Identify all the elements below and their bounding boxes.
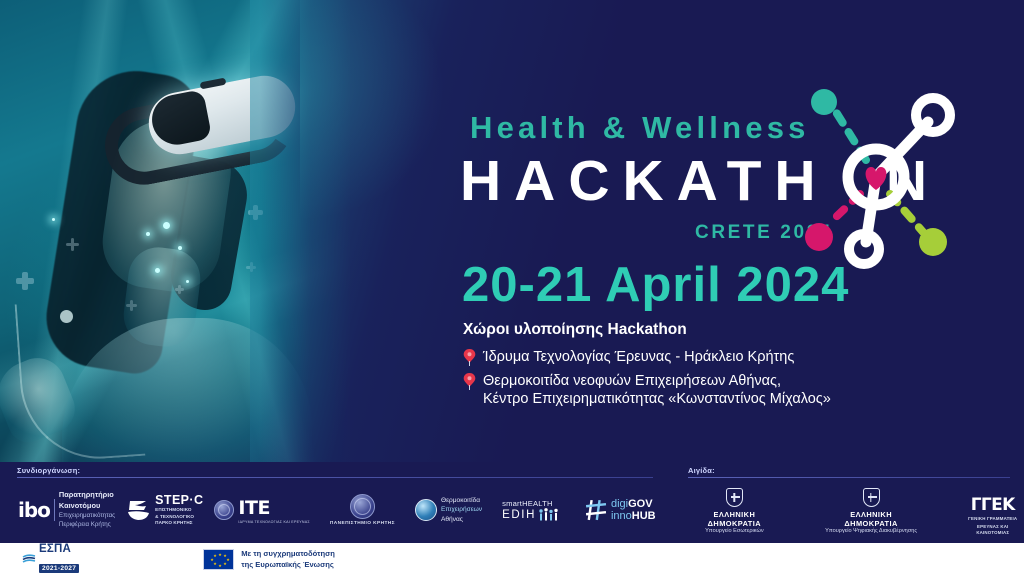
venue-item: Ίδρυμα Τεχνολογίας Έρευνας - Ηράκλειο Κρ… <box>463 348 933 366</box>
organizer-logo-forth: ITE ΙΔΡΥΜΑ ΤΕΧΝΟΛΟΓΙΑΣ ΚΑΙ ΕΡΕΥΝΑΣ <box>214 497 309 524</box>
ministry-digital-sub: Υπουργείο Ψηφιακής Διακυβέρνησης <box>825 528 918 534</box>
forth-seal-icon <box>214 500 234 520</box>
ibo-wordmark: ibo <box>18 498 50 522</box>
ministry-interior-sub: Υπουργείο Εσωτερικών <box>688 528 781 534</box>
map-pin-icon <box>463 373 476 390</box>
medical-cross-icon <box>66 238 79 251</box>
forth-name: ITE <box>238 497 309 519</box>
sparkle <box>186 280 189 283</box>
espa-wave-icon <box>22 553 36 567</box>
medical-cross-icon <box>246 262 256 272</box>
ibo-line2: Καινοτόμου <box>59 501 100 510</box>
hellenic-republic-crest-icon <box>726 488 743 507</box>
event-poster: Health & Wellness HACKATHON CRETE 2024 <box>0 0 1024 576</box>
edih-label: EDIH <box>502 509 536 521</box>
step-c-text: STEP·C ΕΠΙΣΤΗΜΟΝΙΚΟ & ΤΕΧΝΟΛΟΓΙΚΟ ΠΑΡΚΟ … <box>155 493 203 527</box>
medical-cross-icon <box>16 272 34 290</box>
eu-line1: Με τη συγχρηματοδότηση <box>241 549 335 559</box>
organizer-logos: ibo Παρατηρητήριο Καινοτόμου Επιχειρηματ… <box>18 486 656 534</box>
logo-tagline: Health & Wellness <box>470 110 810 146</box>
sparkle <box>178 246 182 250</box>
ibo-line1: Παρατηρητήριο <box>59 490 114 499</box>
forth-text: ITE ΙΔΡΥΜΑ ΤΕΧΝΟΛΟΓΙΑΣ ΚΑΙ ΕΡΕΥΝΑΣ <box>238 497 309 524</box>
step-c-mark-icon <box>126 497 152 523</box>
molecule-network-icon <box>778 82 988 272</box>
auspices-logo-ministry-interior: ΕΛΛΗΝΙΚΗ ΔΗΜΟΚΡΑΤΙΑ Υπουργείο Εσωτερικών <box>688 488 781 534</box>
ggek-name: ΓΓΕΚ <box>961 497 1024 514</box>
auspices-logo-ministry-digital-governance: ΕΛΛΗΝΙΚΗ ΔΗΜΟΚΡΑΤΙΑ Υπουργείο Ψηφιακής Δ… <box>825 488 918 534</box>
hash-grid-icon <box>585 499 607 521</box>
digigov-line2a: inno <box>611 510 632 522</box>
eu-flag-icon: ★ ★ ★ ★ ★ ★ ★ ★ <box>203 549 234 570</box>
auspices-logo-ggek: ΓΓΕΚ ΓΕΝΙΚΗ ΓΡΑΜΜΑΤΕΙΑ ΕΡΕΥΝΑΣ ΚΑΙ ΚΑΙΝΟ… <box>961 497 1024 537</box>
organizers-rule <box>17 477 653 478</box>
medical-cross-icon <box>248 205 263 220</box>
sparkle <box>163 222 170 229</box>
smarthealth-bottom-row: EDIH <box>502 508 562 521</box>
thermokoitida-text: Θερμοκοιτίδα Επιχειρήσεων Αθήνας <box>441 496 482 524</box>
hackathon-logo: Health & Wellness HACKATHON CRETE 2024 <box>455 104 985 254</box>
auspices-rule <box>688 477 1010 478</box>
organizer-logo-step-c: STEP·C ΕΠΙΣΤΗΜΟΝΙΚΟ & ΤΕΧΝΟΛΟΓΙΚΟ ΠΑΡΚΟ … <box>126 493 203 527</box>
sponsor-footer: Συνδιοργάνωση: Αιγίδα: ibo Παρατηρητήριο… <box>0 462 1024 543</box>
organizer-logo-ibo: ibo Παρατηρητήριο Καινοτόμου Επιχειρηματ… <box>18 490 115 530</box>
map-pin-icon <box>463 349 476 366</box>
espa-text: ΕΣΠΑ 2021-2027 Εθνικό Στρατηγικό Πλαίσιο… <box>39 539 95 576</box>
step-c-sub3: ΠΑΡΚΟ ΚΡΗΤΗΣ <box>155 520 203 527</box>
espa-name: ΕΣΠΑ <box>39 543 71 555</box>
espa-logo: ΕΣΠΑ 2021-2027 Εθνικό Στρατηγικό Πλαίσιο… <box>22 539 95 576</box>
hellenic-republic-crest-icon <box>863 488 880 507</box>
organizer-logo-thermokoitida: Θερμοκοιτίδα Επιχειρήσεων Αθήνας <box>415 496 482 524</box>
university-of-crete-seal-icon <box>350 494 375 519</box>
digigov-text: digiGOV innoHUB <box>611 498 656 523</box>
smarthealth-top: smartHEALTH <box>502 499 553 508</box>
event-date: 20-21 April 2024 <box>462 257 849 313</box>
sparkle <box>146 232 150 236</box>
eu-line2: της Ευρωπαϊκής Ένωσης <box>241 560 335 570</box>
ggek-sub2: ΕΡΕΥΝΑΣ ΚΑΙ ΚΑΙΝΟΤΟΜΙΑΣ <box>961 524 1024 537</box>
medical-cross-icon <box>126 300 137 311</box>
venue-item: Θερμοκοιτίδα νεοφυών Επιχειρήσεων Αθήνας… <box>463 372 933 408</box>
sparkle <box>155 268 160 273</box>
venue-item-text: Ίδρυμα Τεχνολογίας Έρευνας - Ηράκλειο Κρ… <box>483 348 794 366</box>
ibo-line3: Επιχειρηματικότητας <box>59 512 115 519</box>
people-chart-icon <box>538 508 562 521</box>
vr-photo-panel <box>0 0 350 462</box>
eu-cofunding-text: Με τη συγχρηματοδότηση της Ευρωπαϊκής Έν… <box>241 549 335 570</box>
ministry-digital-name: ΕΛΛΗΝΙΚΗ ΔΗΜΟΚΡΑΤΙΑ <box>825 510 918 528</box>
forth-sub: ΙΔΡΥΜΑ ΤΕΧΝΟΛΟΓΙΑΣ ΚΑΙ ΕΡΕΥΝΑΣ <box>238 520 309 524</box>
ibo-description: Παρατηρητήριο Καινοτόμου Επιχειρηματικότ… <box>59 490 115 530</box>
espa-years: 2021-2027 <box>39 564 79 573</box>
thermokoitida-line3: Αθήνας <box>441 515 482 524</box>
ggek-sub1: ΓΕΝΙΚΗ ΓΡΑΜΜΑΤΕΙΑ <box>961 516 1024 523</box>
athens-incubator-globe-icon <box>415 499 437 521</box>
thermokoitida-line2: Επιχειρήσεων <box>441 505 482 514</box>
digigov-line2b: HUB <box>632 510 656 522</box>
step-c-name: STEP·C <box>155 493 203 507</box>
ministry-interior-name: ΕΛΛΗΝΙΚΗ ΔΗΜΟΚΡΑΤΙΑ <box>688 510 781 528</box>
organizer-logo-digigov-innohub: digiGOV innoHUB <box>585 498 656 523</box>
photo-cable-tip <box>60 310 73 323</box>
eu-cofunding: ★ ★ ★ ★ ★ ★ ★ ★ Με τη συγχρηματοδότηση τ… <box>203 549 335 570</box>
digigov-line1b: GOV <box>628 498 652 510</box>
ibo-line4: Περιφέρεια Κρήτης <box>59 521 111 528</box>
auspices-logos: ΕΛΛΗΝΙΚΗ ΔΗΜΟΚΡΑΤΙΑ Υπουργείο Εσωτερικών… <box>688 488 1024 534</box>
sparkle <box>52 218 55 221</box>
divider <box>54 499 55 521</box>
eu-funding-bar: ΕΣΠΑ 2021-2027 Εθνικό Στρατηγικό Πλαίσιο… <box>0 543 1024 576</box>
step-c-sub1: ΕΠΙΣΤΗΜΟΝΙΚΟ <box>155 507 203 514</box>
digigov-line1a: digi <box>611 498 628 510</box>
organizer-logo-smarthealth-edih: smartHEALTH EDIH <box>502 499 562 521</box>
auspices-label: Αιγίδα: <box>688 466 715 475</box>
organizer-logo-uoc: ΠΑΝΕΠΙΣΤΗΜΙΟ ΚΡΗΤΗΣ <box>330 494 395 526</box>
step-c-sub2: & ΤΕΧΝΟΛΟΓΙΚΟ <box>155 514 203 521</box>
logo-wordmark-pre: HACKATH <box>460 149 829 213</box>
thermokoitida-line1: Θερμοκοιτίδα <box>441 496 482 505</box>
uoc-sub: ΠΑΝΕΠΙΣΤΗΜΙΟ ΚΡΗΤΗΣ <box>330 521 395 526</box>
organizers-label: Συνδιοργάνωση: <box>17 466 80 475</box>
venue-item-text: Θερμοκοιτίδα νεοφυών Επιχειρήσεων Αθήνας… <box>483 372 831 408</box>
venue-heading: Χώροι υλοποίησης Hackathon <box>463 321 687 339</box>
medical-cross-icon <box>175 285 184 294</box>
venue-list: Ίδρυμα Τεχνολογίας Έρευνας - Ηράκλειο Κρ… <box>463 348 933 414</box>
